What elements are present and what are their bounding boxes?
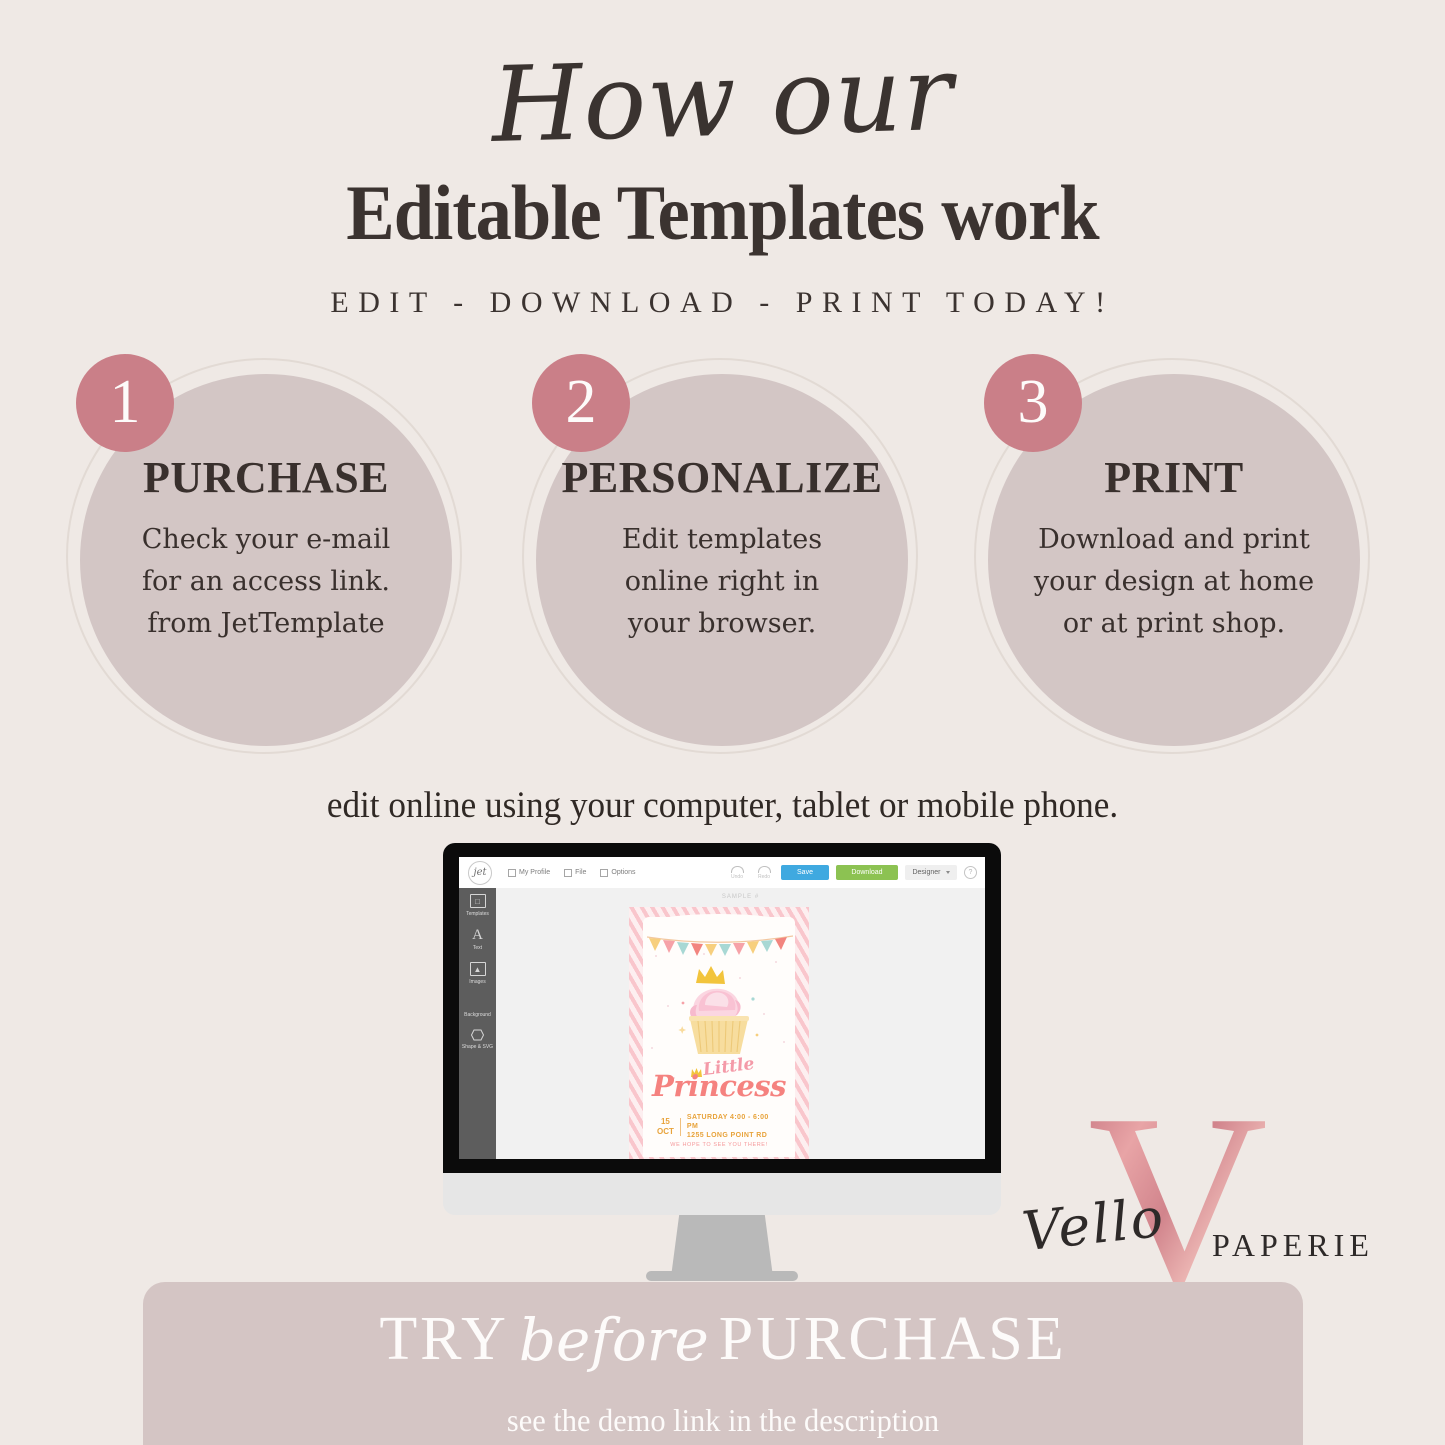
shape-svg-icon [471, 1029, 485, 1041]
monitor-stand-foot [646, 1271, 798, 1281]
sidebar-item-shape-svg[interactable]: Shape & SVG [459, 1029, 496, 1050]
text-icon: A [471, 928, 485, 942]
step-desc-line: Edit templates [536, 519, 908, 561]
monitor-chin [443, 1173, 1001, 1215]
sidebar-label: Templates [466, 911, 489, 917]
step-title: PERSONALIZE [536, 452, 908, 503]
templates-icon: □ [470, 894, 486, 908]
undo-icon [731, 866, 744, 873]
banner-try: TRY [379, 1305, 509, 1373]
redo-label: Redo [758, 874, 770, 880]
menu-label: Options [611, 869, 635, 876]
step-desc-line: for an access link. [80, 561, 452, 603]
step-desc-line: Download and print [988, 519, 1360, 561]
sidebar-label: Text [473, 945, 482, 951]
invitation-date-day: 15 [657, 1117, 674, 1127]
steps-row: 1 PURCHASE Check your e-mail for an acce… [0, 352, 1445, 772]
canvas-sample-label: SAMPLE # [496, 894, 985, 900]
jet-logo-icon[interactable]: jet [468, 861, 492, 885]
step-card-1: 1 PURCHASE Check your e-mail for an acce… [58, 352, 478, 762]
file-icon [564, 869, 572, 877]
menu-item-file[interactable]: File [564, 869, 586, 877]
sidebar-label: Images [469, 979, 485, 985]
sidebar-label: Background [464, 1012, 491, 1018]
banner-purchase: PURCHASE [719, 1305, 1067, 1373]
menu-item-options[interactable]: Options [600, 869, 635, 877]
designer-label: Designer [912, 869, 940, 876]
step-number-badge: 2 [532, 354, 630, 452]
cupcake-illustration-icon [669, 953, 769, 1057]
header-subtitle: EDIT - DOWNLOAD - PRINT TODAY! [0, 286, 1445, 320]
step-desc-line: online right in [536, 561, 908, 603]
toolbar-actions: Undo Redo Save Download Designer ? [727, 865, 977, 880]
edit-online-note: edit online using your computer, tablet … [36, 784, 1409, 827]
step-description: Download and print your design at home o… [988, 519, 1360, 645]
step-desc-line: your browser. [536, 603, 908, 645]
chevron-down-icon [946, 871, 950, 874]
step-number-badge: 1 [76, 354, 174, 452]
invitation-design[interactable]: Little Princess 15 OCT SATURDAY 4:00 - 6… [629, 907, 809, 1159]
step-body: PURCHASE Check your e-mail for an access… [80, 452, 452, 645]
undo-label: Undo [731, 874, 743, 880]
banner-subtitle: see the demo link in the description [172, 1402, 1274, 1439]
step-desc-line: or at print shop. [988, 603, 1360, 645]
step-title: PURCHASE [80, 452, 452, 503]
menu-item-my-profile[interactable]: My Profile [508, 869, 550, 877]
redo-button[interactable]: Redo [754, 866, 774, 880]
invitation-details: 15 OCT SATURDAY 4:00 - 6:00 PM 1255 LONG… [657, 1113, 781, 1140]
redo-icon [758, 866, 771, 873]
toolbar-menu: My Profile File Options [508, 869, 636, 877]
sliders-icon [600, 869, 608, 877]
images-icon: ▲ [470, 962, 486, 976]
step-number-badge: 3 [984, 354, 1082, 452]
invitation-date: 15 OCT [657, 1117, 674, 1137]
header-script-line: How our [0, 19, 1445, 179]
divider [680, 1118, 681, 1136]
monitor-stand-neck [671, 1215, 773, 1277]
download-button[interactable]: Download [836, 865, 898, 880]
banner-before: before [519, 1306, 709, 1374]
step-title: PRINT [988, 452, 1360, 503]
user-icon [508, 869, 516, 877]
invitation-when-where: SATURDAY 4:00 - 6:00 PM 1255 LONG POINT … [687, 1113, 781, 1140]
sidebar-item-background[interactable]: Background [459, 996, 496, 1018]
step-desc-line: from JetTemplate [80, 603, 452, 645]
editor-sidebar: □ Templates A Text ▲ Images Background [459, 888, 496, 1159]
sidebar-label: Shape & SVG [462, 1044, 493, 1050]
invitation-footer: WE HOPE TO SEE YOU THERE! [643, 1142, 795, 1148]
editor-canvas[interactable]: SAMPLE # [496, 888, 985, 1159]
editor-toolbar: jet My Profile File Options [459, 857, 985, 889]
save-button[interactable]: Save [781, 865, 829, 880]
invitation-title-big: Princess [643, 1069, 795, 1103]
brand-word: PAPERIE [1212, 1227, 1374, 1264]
help-icon[interactable]: ? [964, 866, 977, 879]
step-desc-line: your design at home [988, 561, 1360, 603]
background-icon [471, 996, 484, 1009]
sidebar-item-text[interactable]: A Text [459, 928, 496, 951]
invitation-time-line: SATURDAY 4:00 - 6:00 PM [687, 1113, 781, 1131]
step-body: PERSONALIZE Edit templates online right … [536, 452, 908, 645]
monitor-mockup: jet My Profile File Options [443, 843, 1001, 1203]
step-description: Check your e-mail for an access link. fr… [80, 519, 452, 645]
page-title: Editable Templates work [51, 168, 1395, 258]
step-description: Edit templates online right in your brow… [536, 519, 908, 645]
undo-button[interactable]: Undo [727, 866, 747, 880]
invitation-inner-card: Little Princess 15 OCT SATURDAY 4:00 - 6… [643, 917, 795, 1157]
sidebar-item-images[interactable]: ▲ Images [459, 962, 496, 985]
designer-dropdown[interactable]: Designer [905, 865, 957, 880]
step-card-3: 3 PRINT Download and print your design a… [966, 352, 1386, 762]
step-card-2: 2 PERSONALIZE Edit templates online righ… [514, 352, 934, 762]
menu-label: My Profile [519, 869, 550, 876]
sidebar-item-templates[interactable]: □ Templates [459, 894, 496, 917]
step-body: PRINT Download and print your design at … [988, 452, 1360, 645]
menu-label: File [575, 869, 586, 876]
banner-headline: TRYbeforePURCHASE [143, 1304, 1303, 1375]
bottom-banner: TRYbeforePURCHASE see the demo link in t… [143, 1282, 1303, 1445]
step-desc-line: Check your e-mail [80, 519, 452, 561]
editor-screen: jet My Profile File Options [459, 857, 985, 1159]
poster-canvas: How our Editable Templates work EDIT - D… [0, 0, 1445, 1445]
invitation-address-line: 1255 LONG POINT RD [687, 1131, 781, 1140]
invitation-date-month: OCT [657, 1127, 674, 1137]
brand-logo: V Vello PAPERIE [1000, 1085, 1370, 1280]
